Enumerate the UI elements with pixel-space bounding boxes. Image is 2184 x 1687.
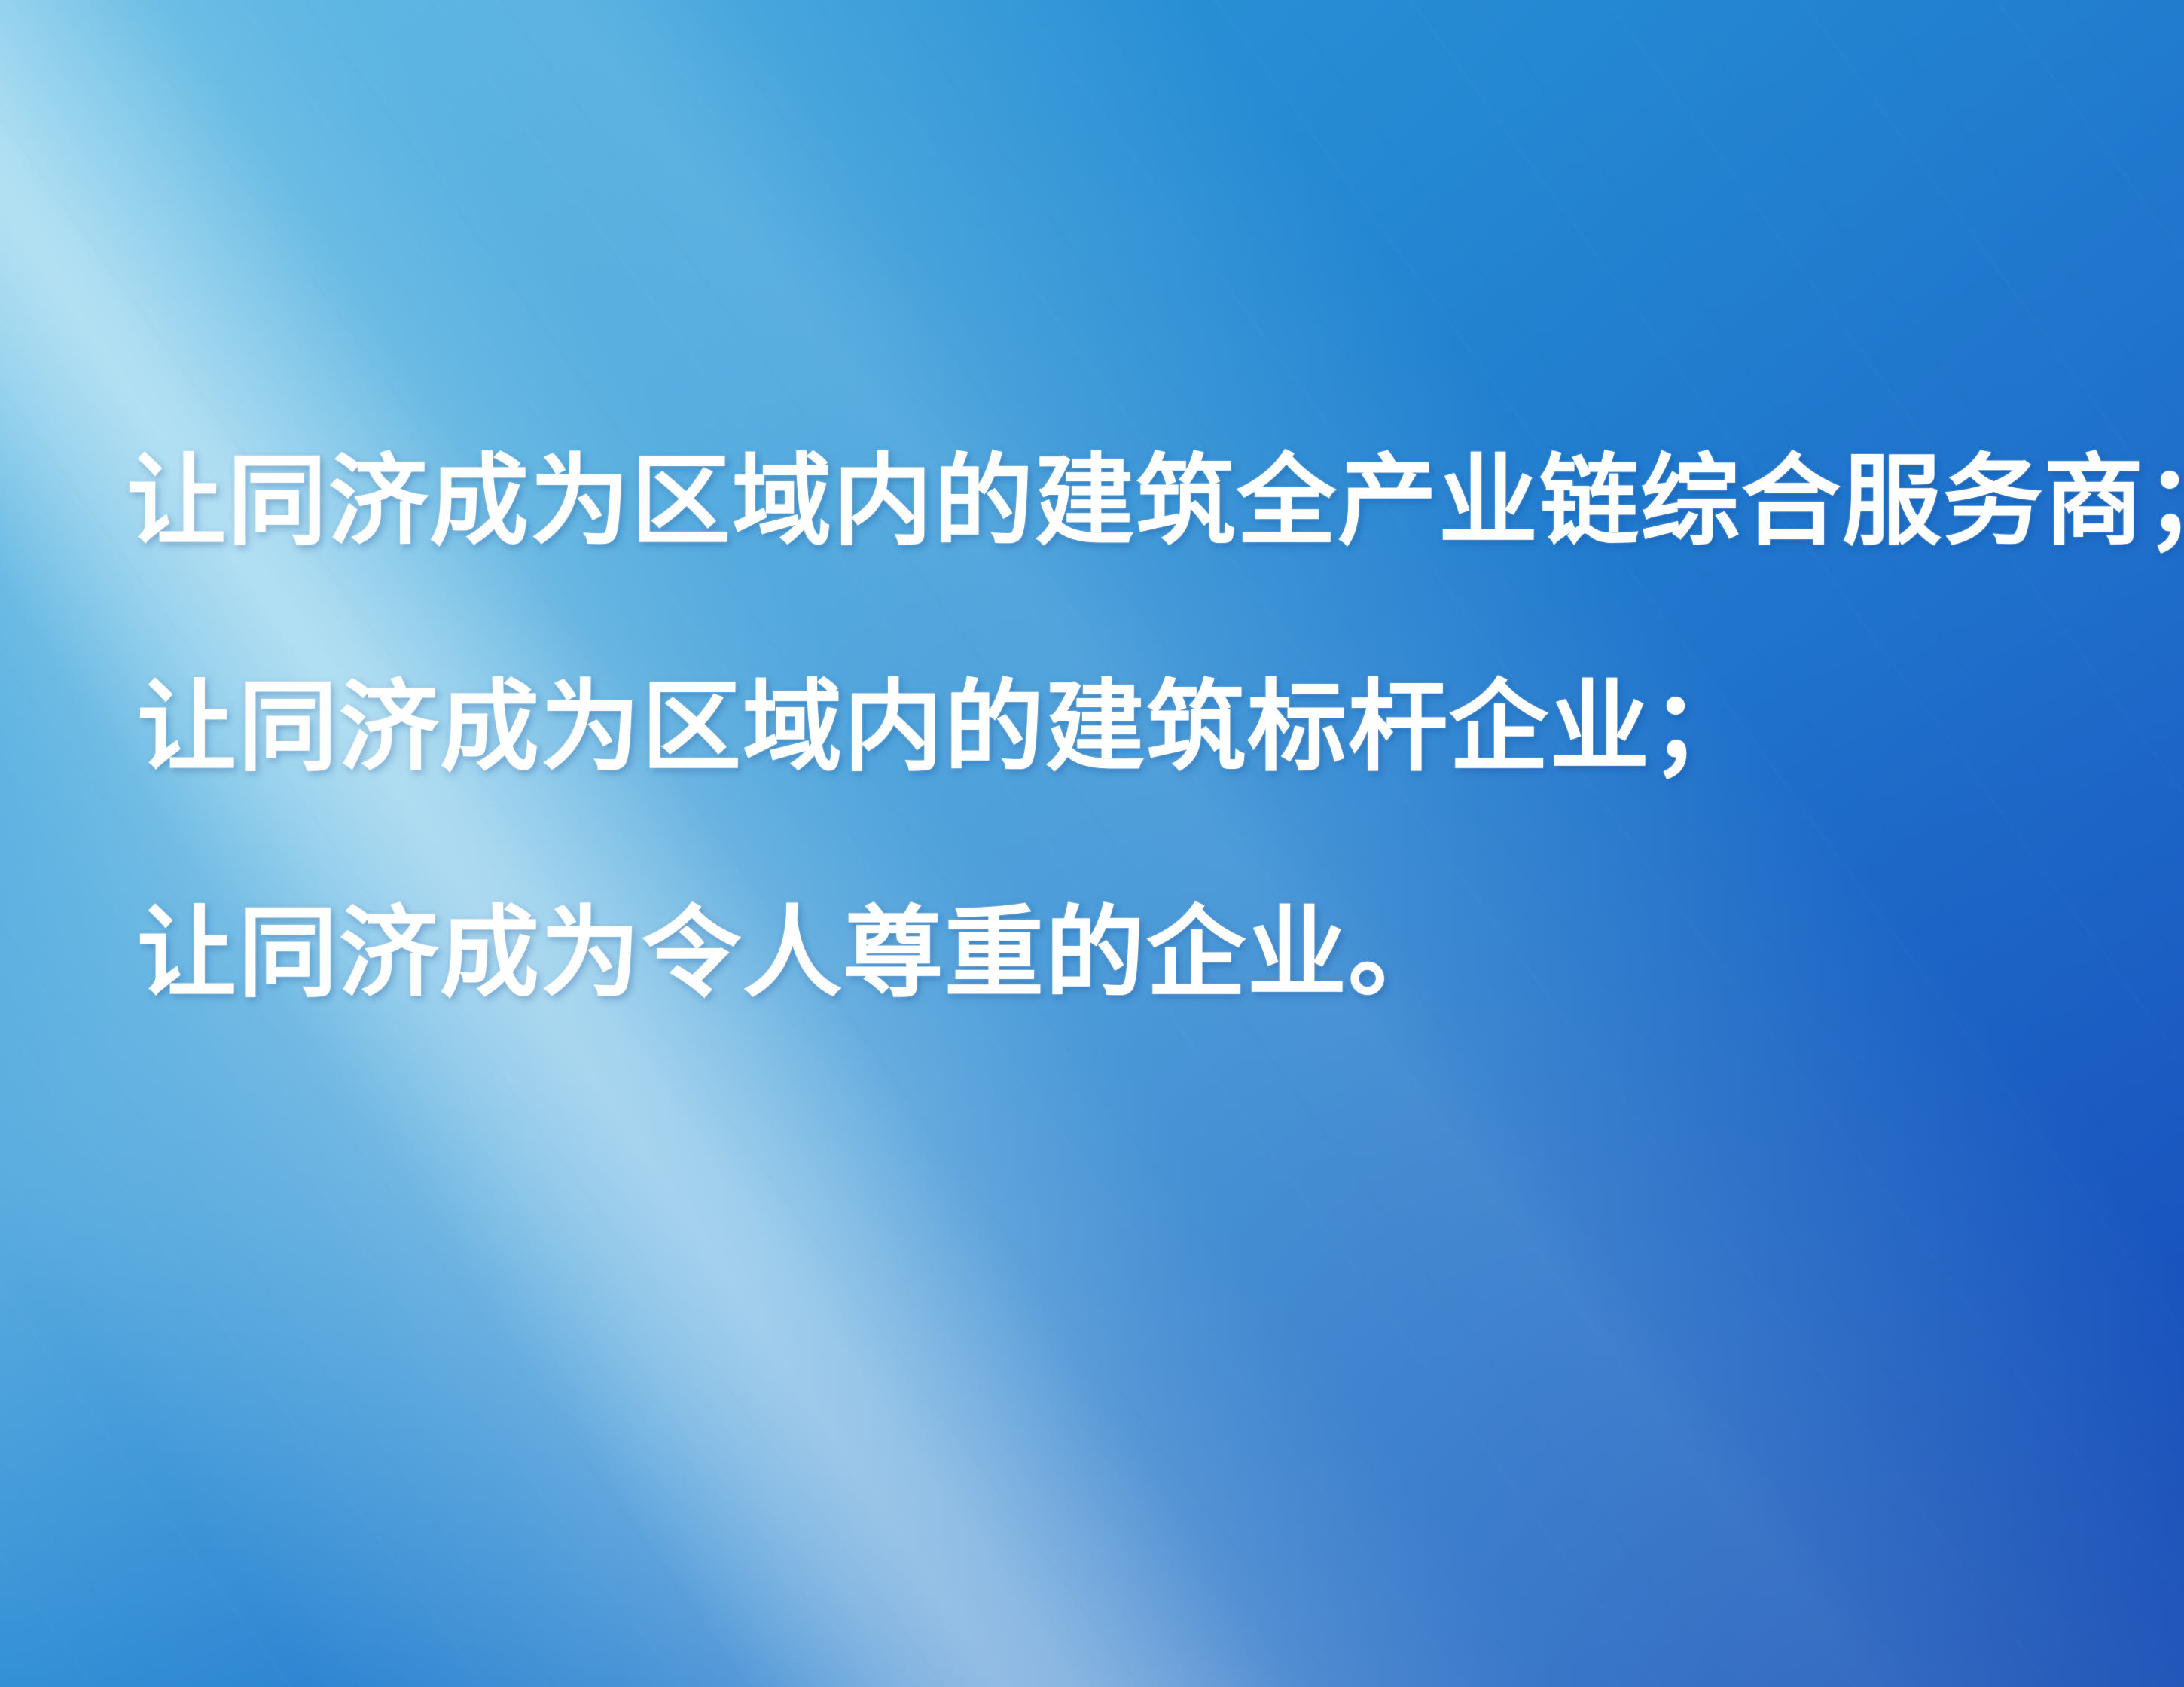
slide-text-block: 让同济成为区域内的建筑全产业链综合服务商； 让同济成为区域内的建筑标杆企业； 让…	[127, 452, 2085, 1003]
slide-line-2: 让同济成为区域内的建筑标杆企业；	[137, 678, 2085, 777]
presentation-slide: 让同济成为区域内的建筑全产业链综合服务商； 让同济成为区域内的建筑标杆企业； 让…	[0, 0, 2184, 1687]
slide-line-1: 让同济成为区域内的建筑全产业链综合服务商；	[127, 452, 2085, 551]
slide-line-3: 让同济成为令人尊重的企业。	[137, 904, 2085, 1003]
